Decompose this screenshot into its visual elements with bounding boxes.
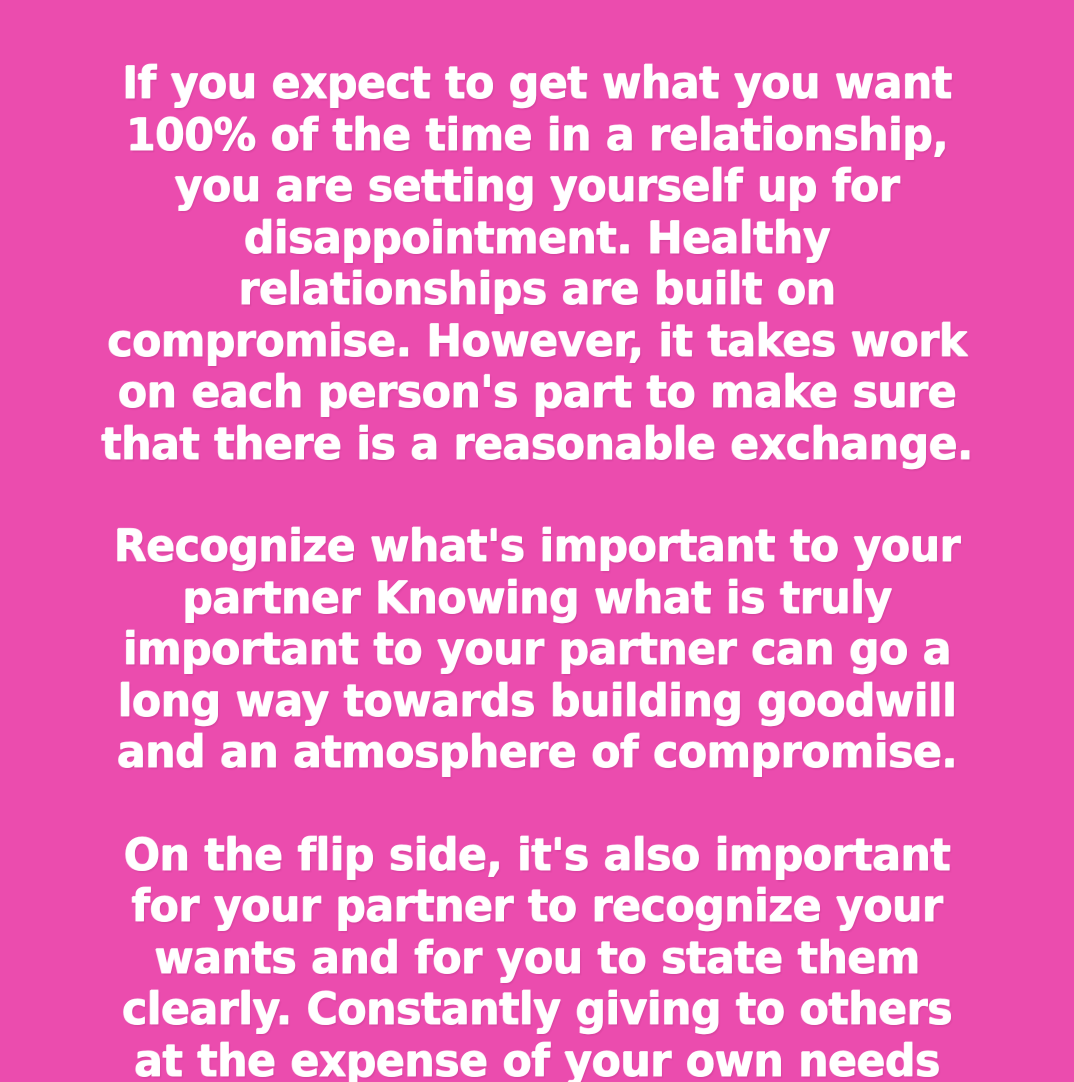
paragraph-spacer [72,470,1002,521]
quote-paragraph-flip-side: On the flip side, it's also important fo… [93,830,981,1082]
quote-paragraph-intro: If you expect to get what you want 100% … [93,58,981,470]
quote-card: If you expect to get what you want 100% … [0,0,1074,1082]
quote-paragraph-recognize-partner: Recognize what's important to your partn… [93,521,981,779]
quote-text-stack: If you expect to get what you want 100% … [72,58,1002,1082]
paragraph-spacer [72,779,1002,830]
